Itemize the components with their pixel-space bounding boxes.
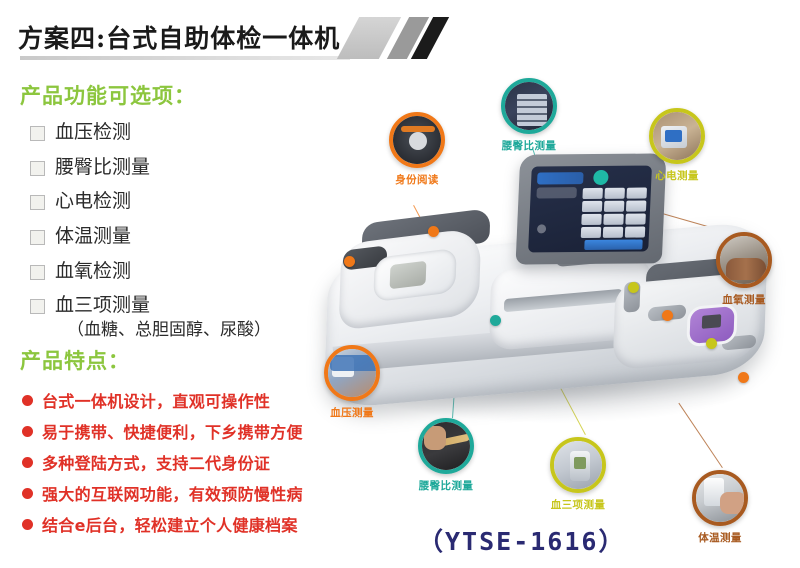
callout-label: 血氧测量	[712, 292, 776, 307]
screen-key[interactable]	[625, 214, 646, 225]
device-marker-orange-tray	[662, 310, 673, 321]
device-marker-orange-probe	[738, 372, 749, 383]
screen-key[interactable]	[582, 201, 603, 212]
list-item-label: 心电检测	[55, 189, 131, 215]
kiosk-screen-icon	[505, 82, 553, 130]
screen-subtitle-bar	[536, 187, 577, 198]
list-item[interactable]: 心电检测	[30, 189, 320, 215]
slide-canvas: 方案四:台式自助体检一体机 产品功能可选项： 产品特点： 血压检测 腰臀比测量 …	[0, 0, 800, 568]
blood-pressure-cuff-icon	[328, 349, 376, 397]
screen-title-bar	[537, 172, 584, 184]
device-illustration	[318, 160, 788, 460]
thermometer-icon	[696, 474, 744, 522]
device-marker-yellow-meter	[706, 338, 717, 349]
callout-label: 血三项测量	[546, 497, 610, 512]
page-title-text: 方案四:台式自助体检一体机	[18, 19, 340, 55]
list-item-label: 易于携带、快捷便利，下乡携带方便	[42, 419, 303, 443]
list-item-sublabel: （血糖、总胆固醇、尿酸）	[67, 319, 271, 342]
list-item-label: 血三项测量 （血糖、总胆固醇、尿酸）	[55, 293, 271, 342]
bullet-dot-icon	[22, 395, 33, 406]
list-item-label: 台式一体机设计，直观可操作性	[42, 388, 270, 412]
screen-key[interactable]	[626, 201, 647, 212]
list-item[interactable]: 血三项测量 （血糖、总胆固醇、尿酸）	[30, 293, 320, 342]
list-item-label: 腰臀比测量	[55, 155, 150, 181]
callout-waist-hip-top[interactable]: 腰臀比测量	[497, 78, 561, 153]
list-item: 强大的互联网功能，有效预防慢性病	[22, 481, 362, 505]
callout-blood-three[interactable]: 血三项测量	[546, 437, 610, 512]
callout-spo2[interactable]: 血氧测量	[712, 232, 776, 307]
callout-blood-pressure[interactable]: 血压测量	[320, 345, 384, 420]
checkbox-icon[interactable]	[30, 126, 45, 141]
selling-point-list: 台式一体机设计，直观可操作性 易于携带、快捷便利，下乡携带方便 多种登陆方式，支…	[22, 388, 362, 543]
list-item: 结合e后台，轻松建立个人健康档案	[22, 512, 362, 536]
list-item: 台式一体机设计，直观可操作性	[22, 388, 362, 412]
features-heading: 产品功能可选项：	[20, 80, 196, 110]
checkbox-icon[interactable]	[30, 265, 45, 280]
callout-label: 腰臀比测量	[497, 138, 561, 153]
callout-label: 心电测量	[645, 168, 709, 183]
page-title: 方案四:台式自助体检一体机	[18, 18, 340, 56]
waist-tape-icon	[422, 422, 470, 470]
list-item: 多种登陆方式，支持二代身份证	[22, 450, 362, 474]
title-underline	[20, 56, 350, 60]
list-item-label: 血氧检测	[55, 259, 131, 285]
device-marker-orange-top	[428, 226, 439, 237]
callout-photo[interactable]	[418, 418, 474, 474]
callout-label: 体温测量	[688, 530, 752, 545]
callout-photo[interactable]	[324, 345, 380, 401]
bullet-dot-icon	[22, 426, 33, 437]
screen-key[interactable]	[581, 227, 602, 238]
screen-key[interactable]	[582, 188, 603, 199]
list-item[interactable]: 体温测量	[30, 224, 320, 250]
device-marker-teal-center	[490, 315, 501, 326]
device-touchscreen[interactable]	[528, 166, 652, 253]
screen-key[interactable]	[603, 227, 624, 238]
ecg-monitor-icon	[653, 112, 701, 160]
checkbox-icon[interactable]	[30, 161, 45, 176]
callout-photo[interactable]	[692, 470, 748, 526]
list-item[interactable]: 腰臀比测量	[30, 155, 320, 181]
list-item-label: 体温测量	[55, 224, 131, 250]
bullet-dot-icon	[22, 457, 33, 468]
list-item-label: 多种登陆方式，支持二代身份证	[42, 450, 270, 474]
callout-photo[interactable]	[716, 232, 772, 288]
callout-label: 身份阅读	[385, 172, 449, 187]
screen-key[interactable]	[625, 226, 646, 237]
id-card-reader-icon	[393, 116, 441, 164]
checkbox-icon[interactable]	[30, 230, 45, 245]
screen-keypad[interactable]	[581, 188, 647, 239]
screen-key[interactable]	[603, 214, 624, 225]
screen-key[interactable]	[604, 188, 625, 199]
list-item-label: 强大的互联网功能，有效预防慢性病	[42, 481, 303, 505]
callout-label: 血压测量	[320, 405, 384, 420]
list-item: 易于携带、快捷便利，下乡携带方便	[22, 419, 362, 443]
bullet-dot-icon	[22, 519, 33, 530]
screen-teal-indicator-icon	[593, 170, 609, 185]
callout-photo[interactable]	[649, 108, 705, 164]
title-slash-decoration	[348, 17, 458, 59]
model-number: （YTSE-1616）	[418, 522, 625, 558]
finger-oximeter-icon	[720, 236, 768, 284]
screen-logo-icon	[537, 224, 546, 233]
device-purple-meter-display	[702, 314, 721, 329]
list-item[interactable]: 血压检测	[30, 120, 320, 146]
list-item-label: 血压检测	[55, 120, 131, 146]
screen-key[interactable]	[604, 201, 625, 212]
checkbox-icon[interactable]	[30, 195, 45, 210]
screen-key[interactable]	[581, 214, 602, 225]
callout-label: 腰臀比测量	[414, 478, 478, 493]
bullet-dot-icon	[22, 488, 33, 499]
list-item-label-main: 血三项测量	[55, 294, 150, 316]
callout-photo[interactable]	[501, 78, 557, 134]
screen-key[interactable]	[626, 188, 647, 199]
callout-id-reading[interactable]: 身份阅读	[385, 112, 449, 187]
callout-photo[interactable]	[389, 112, 445, 168]
list-item-label: 结合e后台，轻松建立个人健康档案	[42, 512, 298, 536]
callout-temperature[interactable]: 体温测量	[688, 470, 752, 545]
callout-ecg[interactable]: 心电测量	[645, 108, 709, 183]
screen-confirm-button[interactable]	[584, 239, 643, 249]
feature-option-list: 血压检测 腰臀比测量 心电检测 体温测量 血氧检测 血三项测量 （血糖、总胆固醇…	[30, 120, 320, 351]
list-item[interactable]: 血氧检测	[30, 259, 320, 285]
callout-waist-hip-bottom[interactable]: 腰臀比测量	[414, 418, 478, 493]
device-marker-yellow-tray	[628, 282, 639, 293]
callout-photo[interactable]	[550, 437, 606, 493]
device-bp-display	[390, 261, 427, 290]
device-marker-orange-left	[344, 256, 355, 267]
checkbox-icon[interactable]	[30, 299, 45, 314]
glucose-meter-icon	[554, 441, 602, 489]
